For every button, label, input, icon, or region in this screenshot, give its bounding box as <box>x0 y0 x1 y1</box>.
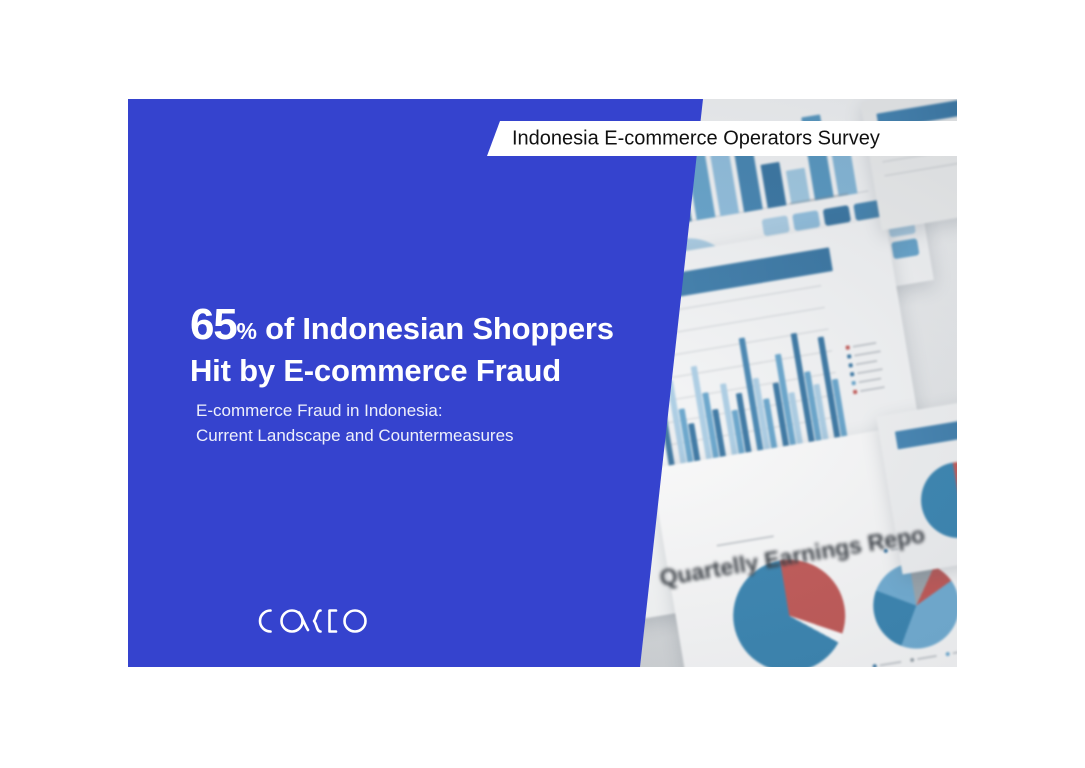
page-title: 65% of Indonesian Shoppers Hit by E-comm… <box>190 303 614 391</box>
subtitle-line-1: E-commerce Fraud in Indonesia: <box>196 398 514 423</box>
stat-number: 65 <box>190 300 237 349</box>
slide-canvas: Quartelly Earnings Repo 65% of Indonesia… <box>128 99 957 667</box>
survey-banner-title: Indonesia E-commerce Operators Survey <box>512 127 880 150</box>
caello-wordmark-icon <box>254 604 379 638</box>
stat-unit: % <box>237 318 257 344</box>
subtitle: E-commerce Fraud in Indonesia: Current L… <box>196 398 514 448</box>
survey-banner: Indonesia E-commerce Operators Survey <box>487 121 957 156</box>
brand-logo: caello <box>254 604 379 638</box>
headline-line1-rest: of Indonesian Shoppers <box>257 311 614 346</box>
subtitle-line-2: Current Landscape and Countermeasures <box>196 423 514 448</box>
copy-block: 65% of Indonesian Shoppers Hit by E-comm… <box>190 99 710 667</box>
headline-line2: Hit by E-commerce Fraud <box>190 353 561 388</box>
